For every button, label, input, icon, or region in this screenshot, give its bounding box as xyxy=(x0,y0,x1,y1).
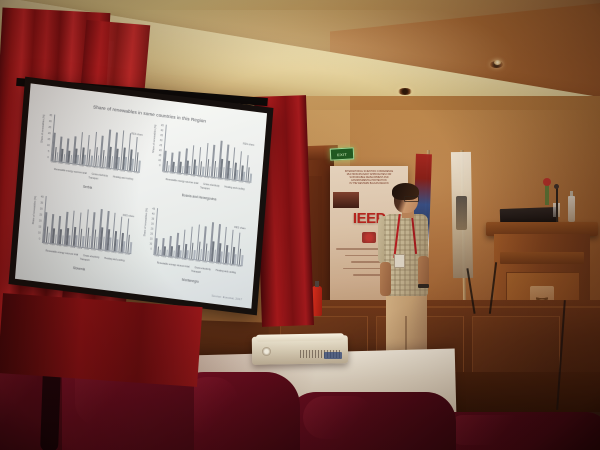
chart-slovenia: Share of renewables (%) 403530 252015 10… xyxy=(23,190,139,288)
curtain-lower-fold xyxy=(0,293,203,387)
eyeglasses-icon xyxy=(404,196,419,202)
ceiling-spotlight-icon xyxy=(398,88,412,95)
rose-flower-icon xyxy=(545,183,549,205)
poster-header-line: IN THE WESTERN BALKAN REGION xyxy=(334,183,404,186)
flag-emblem-icon xyxy=(456,196,467,230)
projector-lens-icon xyxy=(262,347,271,356)
presenter-badge xyxy=(394,254,405,268)
slide-content: Share of renewables in some countries in… xyxy=(15,83,267,308)
poster-emblem-icon xyxy=(362,232,376,243)
presenter-arm xyxy=(380,262,391,296)
poster-photo xyxy=(333,192,359,208)
projector-port-panel xyxy=(324,352,342,359)
chart-montenegro: Share of renewables (%) 454035 302520 15… xyxy=(135,202,251,300)
exit-sign: EXIT xyxy=(330,147,355,160)
presenter-arm xyxy=(418,256,429,286)
auditorium-seat xyxy=(286,392,456,450)
water-bottle[interactable] xyxy=(568,196,575,222)
ceiling-spotlight-glow xyxy=(494,60,501,65)
poster-header: INTERNATIONAL SCIENTIFIC CONFERENCE MULT… xyxy=(334,171,404,186)
conference-hall-photo: EXIT INTERNATIONAL SCIENTIFIC CONFERENCE… xyxy=(0,0,600,450)
exit-sign-label: EXIT xyxy=(337,151,347,157)
lectern-trim xyxy=(500,252,584,264)
projection-screen-surface: Share of renewables in some countries in… xyxy=(15,83,267,308)
presenter-lanyard xyxy=(396,214,416,258)
microphone-icon[interactable] xyxy=(556,188,558,222)
wristwatch-icon xyxy=(418,284,429,288)
projection-screen: Share of renewables in some countries in… xyxy=(9,77,274,316)
chart-serbia: Share of renewables (%) 353025 201510 50 xyxy=(32,109,148,207)
chart-bosnia-herzegovina: Share of renewables (%) 454035 302520 15… xyxy=(143,119,259,217)
